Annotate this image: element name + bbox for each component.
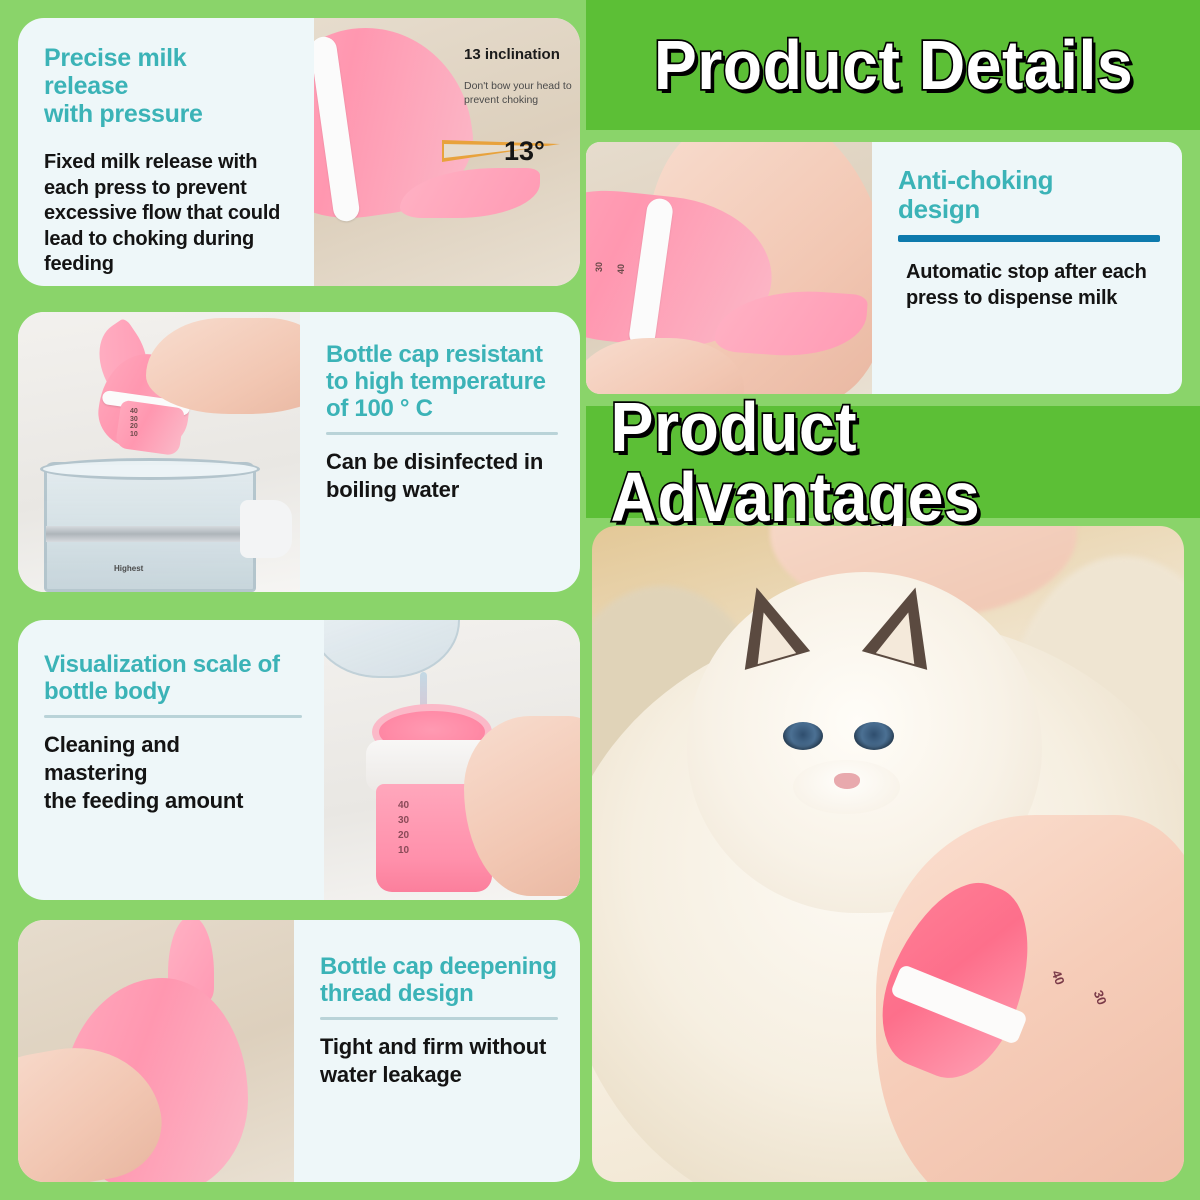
card-visualization-scale: Visualization scale of bottle body Clean… (18, 620, 580, 900)
card-3-divider (326, 432, 558, 435)
card-2-text-block: Anti-choking design Automatic stop after… (872, 142, 1182, 394)
card-4-text-block: Visualization scale of bottle body Clean… (18, 620, 324, 900)
scale-mark-40: 40 (616, 264, 626, 274)
banner-product-advantages-text: Product Advantages (611, 392, 1176, 532)
card-4-divider (44, 715, 302, 718)
holding-hand-shape (146, 318, 300, 414)
scale-mark-30: 30 (594, 262, 604, 272)
bottle-scale-marks: 40 30 20 10 (398, 798, 409, 858)
kettle-brand-label: Highest (114, 564, 143, 573)
thumb-pressing-bottle-photo (18, 920, 294, 1182)
card-3-body: Can be disinfected in boiling water (326, 448, 558, 504)
infographic-page: Precise milk release with pressure Fixed… (0, 0, 1200, 1200)
card-4-body: Cleaning and mastering the feeding amoun… (44, 731, 302, 815)
inclination-heading: 13 inclination (464, 46, 560, 63)
card-anti-choking-design: 30 40 Anti-choking design Automatic stop… (586, 142, 1182, 394)
pitcher-shape (324, 620, 460, 678)
card-3-text-block: Bottle cap resistant to high temperature… (300, 312, 580, 592)
bottle-lower-body-shape (115, 400, 185, 456)
card-5-divider (320, 1017, 558, 1020)
card-2-divider (898, 235, 1160, 242)
card-1-text-block: Precise milk release with pressure Fixed… (18, 18, 314, 286)
bottle-inclination-photo: 13 inclination Don't bow your head to pr… (314, 18, 580, 286)
card-4-title: Visualization scale of bottle body (44, 652, 302, 706)
card-1-title: Precise milk release with pressure (44, 44, 292, 128)
card-precise-milk-release: Precise milk release with pressure Fixed… (18, 18, 580, 286)
banner-product-details-text: Product Details (653, 30, 1132, 100)
card-5-title: Bottle cap deepening thread design (320, 954, 558, 1008)
kettle-metal-band (46, 526, 254, 542)
banner-product-advantages: Product Advantages (586, 406, 1200, 518)
card-1-body: Fixed milk release with each press to pr… (44, 150, 292, 278)
bottle-over-boiling-kettle-photo: 40302010 Highest (18, 312, 300, 592)
kitten-being-fed-photo: 40 30 (592, 526, 1184, 1182)
kettle-handle (240, 500, 292, 558)
card-5-text-block: Bottle cap deepening thread design Tight… (294, 920, 580, 1182)
card-2-title: Anti-choking design (898, 166, 1160, 224)
bottle-scale-marks: 40302010 (130, 408, 138, 439)
card-2-body: Automatic stop after each press to dispe… (898, 260, 1160, 311)
card-5-body: Tight and firm without water leakage (320, 1033, 558, 1089)
kitten-ear-right-icon (862, 578, 948, 670)
kitten-eye-left (783, 722, 823, 750)
inclination-subtext: Don't bow your head to prevent choking (464, 80, 572, 107)
card-bottle-cap-deepening-thread: Bottle cap deepening thread design Tight… (18, 920, 580, 1182)
pouring-water-into-bottle-photo: 40 30 20 10 (324, 620, 580, 900)
kitten-ear-inner-right (876, 606, 928, 663)
hand-squeezing-bottle-photo: 30 40 (586, 142, 872, 394)
inclination-angle-value: 13° (504, 136, 545, 167)
kitten-ear-left-icon (724, 578, 810, 670)
kettle-rim (40, 458, 260, 480)
kitten-eye-right (854, 722, 894, 750)
kitten-ear-inner-left (744, 606, 796, 663)
card-3-title: Bottle cap resistant to high temperature… (326, 342, 558, 423)
banner-product-details: Product Details (586, 0, 1200, 130)
card-bottle-cap-heat-resistant: 40302010 Highest Bottle cap resistant to… (18, 312, 580, 592)
